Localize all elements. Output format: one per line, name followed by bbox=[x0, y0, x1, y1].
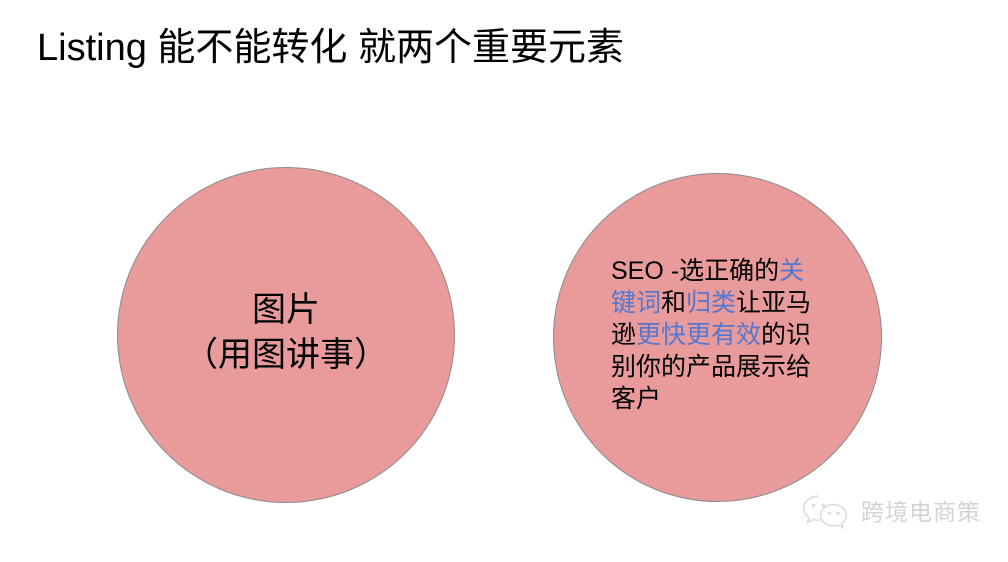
page-title: Listing 能不能转化 就两个重要元素 bbox=[37, 24, 624, 72]
watermark: 跨境电商策 bbox=[800, 492, 981, 532]
wechat-icon bbox=[800, 492, 852, 532]
segment-plain-2: 和 bbox=[661, 289, 686, 317]
left-circle-line-2: （用图讲事） bbox=[184, 333, 388, 378]
segment-plain-1: SEO -选正确的 bbox=[611, 257, 779, 285]
segment-highlight-category: 归类 bbox=[686, 289, 736, 317]
slide-canvas: Listing 能不能转化 就两个重要元素 图片 （用图讲事） SEO -选正确… bbox=[0, 0, 1008, 562]
segment-highlight-faster: 更快更有效 bbox=[636, 321, 761, 349]
left-circle-text: 图片 （用图讲事） bbox=[184, 288, 388, 382]
left-circle-line-1: 图片 bbox=[184, 288, 388, 333]
right-concept-circle: SEO -选正确的关键词和归类让亚马逊更快更有效的识别你的产品展示给客户 bbox=[553, 173, 882, 502]
watermark-label: 跨境电商策 bbox=[861, 498, 981, 526]
left-concept-circle: 图片 （用图讲事） bbox=[117, 167, 455, 503]
right-circle-text: SEO -选正确的关键词和归类让亚马逊更快更有效的识别你的产品展示给客户 bbox=[611, 255, 826, 415]
